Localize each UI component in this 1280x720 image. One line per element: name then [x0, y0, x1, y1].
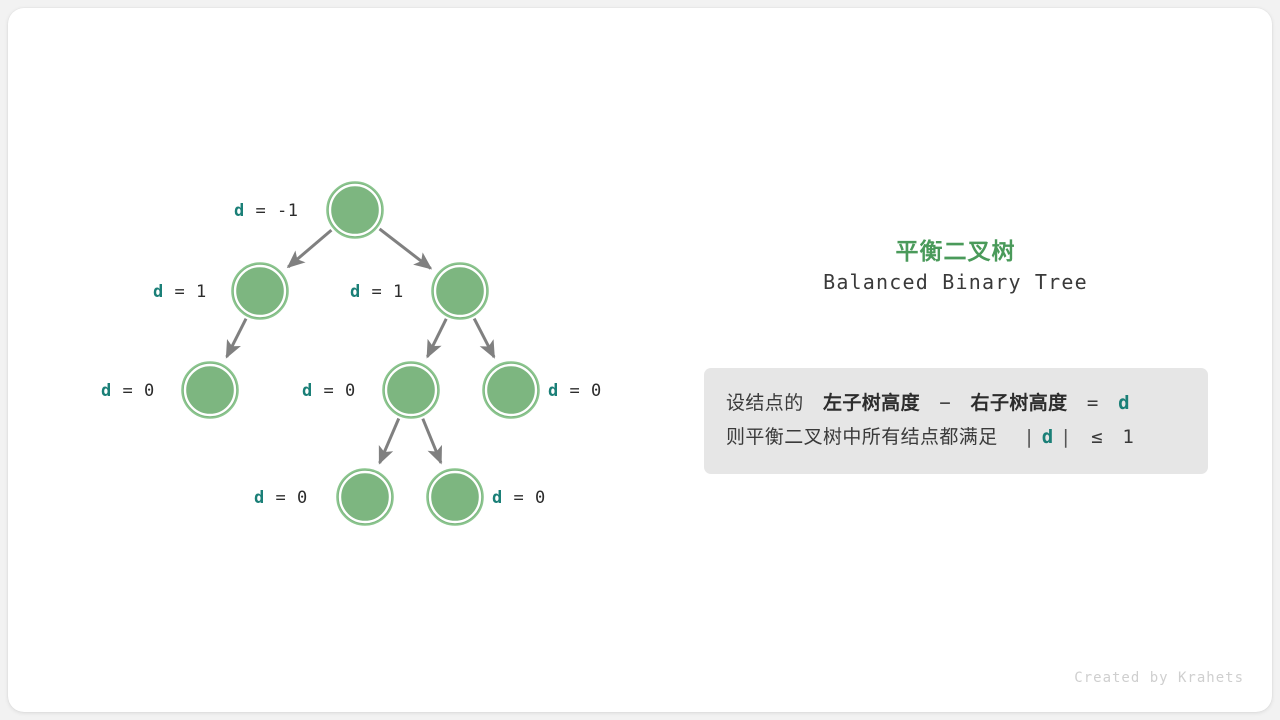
label-variable: d [302, 381, 313, 401]
left-subtree-height-term: 左子树高度 [823, 392, 920, 414]
tree-nodes [182, 182, 539, 525]
node-balance-label: d = 1 [153, 282, 207, 302]
label-variable: d [234, 201, 245, 221]
tree-node[interactable] [383, 362, 439, 418]
label-variable: d [492, 488, 503, 508]
label-variable: d [350, 282, 361, 302]
panel-title-english: Balanced Binary Tree [648, 270, 1263, 294]
label-equals: = [503, 488, 535, 508]
tree-edge [380, 229, 431, 268]
node-balance-label: d = -1 [234, 201, 298, 221]
label-equals: = [361, 282, 393, 302]
right-subtree-height-term: 右子树高度 [971, 392, 1068, 414]
tree-edge [427, 319, 446, 357]
minus-operator: − [939, 392, 951, 414]
abs-bar-open-icon: | [1023, 426, 1035, 448]
node-balance-label: d = 0 [101, 381, 155, 401]
definition-box: 设结点的 左子树高度 − 右子树高度 = d 则平衡二叉树中所有结点都满足 | … [704, 368, 1208, 474]
label-variable: d [101, 381, 112, 401]
definition-prefix: 设结点的 [726, 392, 804, 414]
label-value: 0 [345, 381, 356, 401]
label-value: 0 [591, 381, 602, 401]
node-balance-label: d = 0 [548, 381, 602, 401]
tree-edge [423, 419, 441, 463]
panel-title-chinese: 平衡二叉树 [648, 232, 1263, 266]
tree-edge [288, 230, 331, 267]
node-balance-label: d = 1 [350, 282, 404, 302]
tree-node[interactable] [427, 469, 483, 525]
label-variable: d [254, 488, 265, 508]
label-value: 1 [196, 282, 207, 302]
condition-prefix: 则平衡二叉树中所有结点都满足 [726, 426, 998, 448]
label-value: 1 [393, 282, 404, 302]
node-inner-fill [488, 367, 534, 413]
abs-bar-close-icon: | [1060, 426, 1072, 448]
label-value: 0 [297, 488, 308, 508]
label-variable: d [548, 381, 559, 401]
credit-text: Created by Krahets [1074, 670, 1244, 686]
label-equals: = [164, 282, 196, 302]
tree-edge [380, 418, 399, 463]
equals-operator: = [1087, 392, 1099, 414]
tree-edge [227, 319, 246, 357]
node-inner-fill [432, 474, 478, 520]
tree-node[interactable] [232, 263, 288, 319]
balance-factor-variable-abs: d [1042, 426, 1054, 448]
node-inner-fill [437, 268, 483, 314]
label-variable: d [153, 282, 164, 302]
node-inner-fill [187, 367, 233, 413]
less-equal-operator: ≤ [1091, 426, 1103, 448]
node-balance-label: d = 0 [492, 488, 546, 508]
node-balance-label: d = 0 [302, 381, 356, 401]
node-inner-fill [342, 474, 388, 520]
tree-node[interactable] [483, 362, 539, 418]
node-inner-fill [388, 367, 434, 413]
node-balance-label: d = 0 [254, 488, 308, 508]
label-equals: = [559, 381, 591, 401]
info-panel: 平衡二叉树 Balanced Binary Tree 设结点的 左子树高度 − … [648, 8, 1272, 712]
tree-edge [474, 319, 494, 358]
label-equals: = [112, 381, 144, 401]
label-value: 0 [144, 381, 155, 401]
definition-line-2: 则平衡二叉树中所有结点都满足 | d | ≤ 1 [726, 420, 1186, 454]
node-inner-fill [332, 187, 378, 233]
threshold-value: 1 [1122, 426, 1134, 448]
label-value: 0 [535, 488, 546, 508]
node-inner-fill [237, 268, 283, 314]
tree-node[interactable] [432, 263, 488, 319]
tree-node[interactable] [182, 362, 238, 418]
label-value: -1 [277, 201, 298, 221]
tree-node[interactable] [327, 182, 383, 238]
label-equals: = [265, 488, 297, 508]
balance-factor-variable: d [1118, 392, 1130, 414]
binary-tree-graphic [8, 8, 648, 712]
diagram-card: d = -1d = 1d = 1d = 0d = 0d = 0d = 0d = … [8, 8, 1272, 712]
tree-node[interactable] [337, 469, 393, 525]
definition-line-1: 设结点的 左子树高度 − 右子树高度 = d [726, 386, 1186, 420]
label-equals: = [245, 201, 277, 221]
label-equals: = [313, 381, 345, 401]
